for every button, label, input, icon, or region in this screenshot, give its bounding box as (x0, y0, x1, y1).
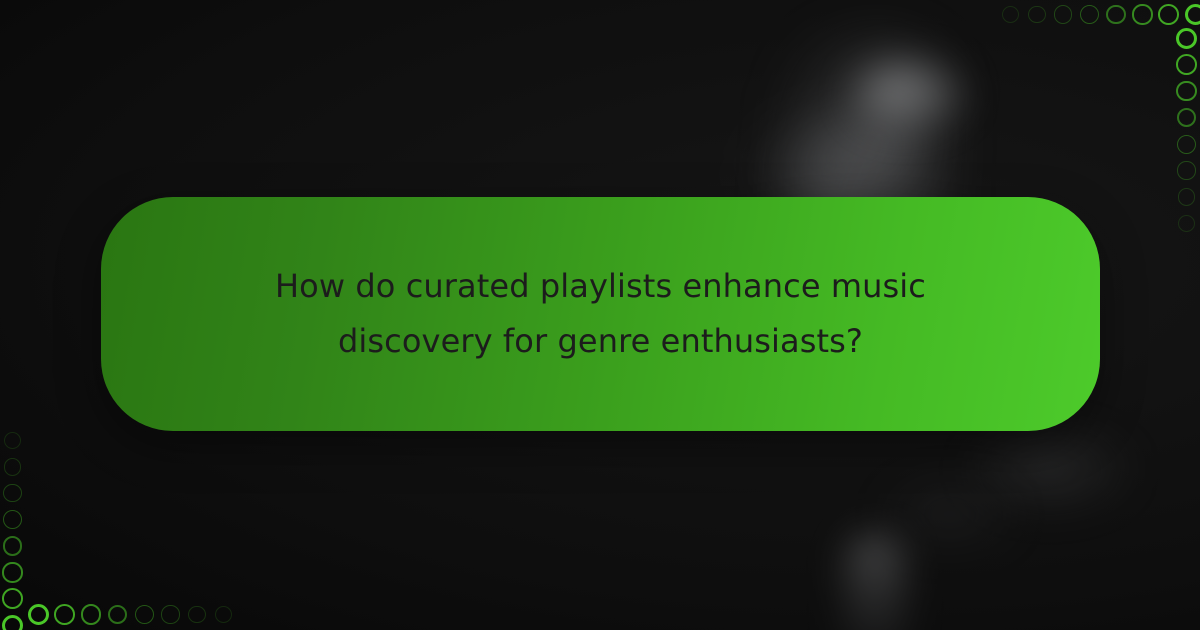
decor-circle-icon (215, 606, 232, 623)
decor-circle-icon (1054, 5, 1072, 23)
social-card-canvas: How do curated playlists enhance music d… (0, 0, 1200, 630)
decor-circle-icon (161, 605, 179, 623)
decor-circle-icon (1080, 5, 1099, 24)
decor-circle-icon (4, 432, 21, 449)
decor-circle-icon (1028, 6, 1046, 24)
decor-circle-icon (1177, 161, 1195, 179)
decor-circle-icon (2, 562, 22, 582)
decor-circle-icon (1178, 188, 1196, 206)
question-card: How do curated playlists enhance music d… (101, 197, 1100, 431)
decor-circle-icon (1106, 5, 1126, 25)
decor-circle-icon (188, 606, 206, 624)
decor-circle-icon (81, 604, 101, 624)
decor-circle-icon (3, 484, 21, 502)
decor-circle-icon (135, 605, 154, 624)
decor-circle-icon (1002, 6, 1019, 23)
decor-circle-icon (1177, 135, 1196, 154)
decor-circle-icon (1176, 81, 1196, 101)
decor-circle-icon (1132, 4, 1152, 24)
decor-circle-icon (3, 536, 23, 556)
decor-circle-icon (4, 458, 22, 476)
decor-circle-icon (3, 510, 22, 529)
question-text: How do curated playlists enhance music d… (241, 259, 961, 369)
decor-circle-icon (1178, 215, 1195, 232)
